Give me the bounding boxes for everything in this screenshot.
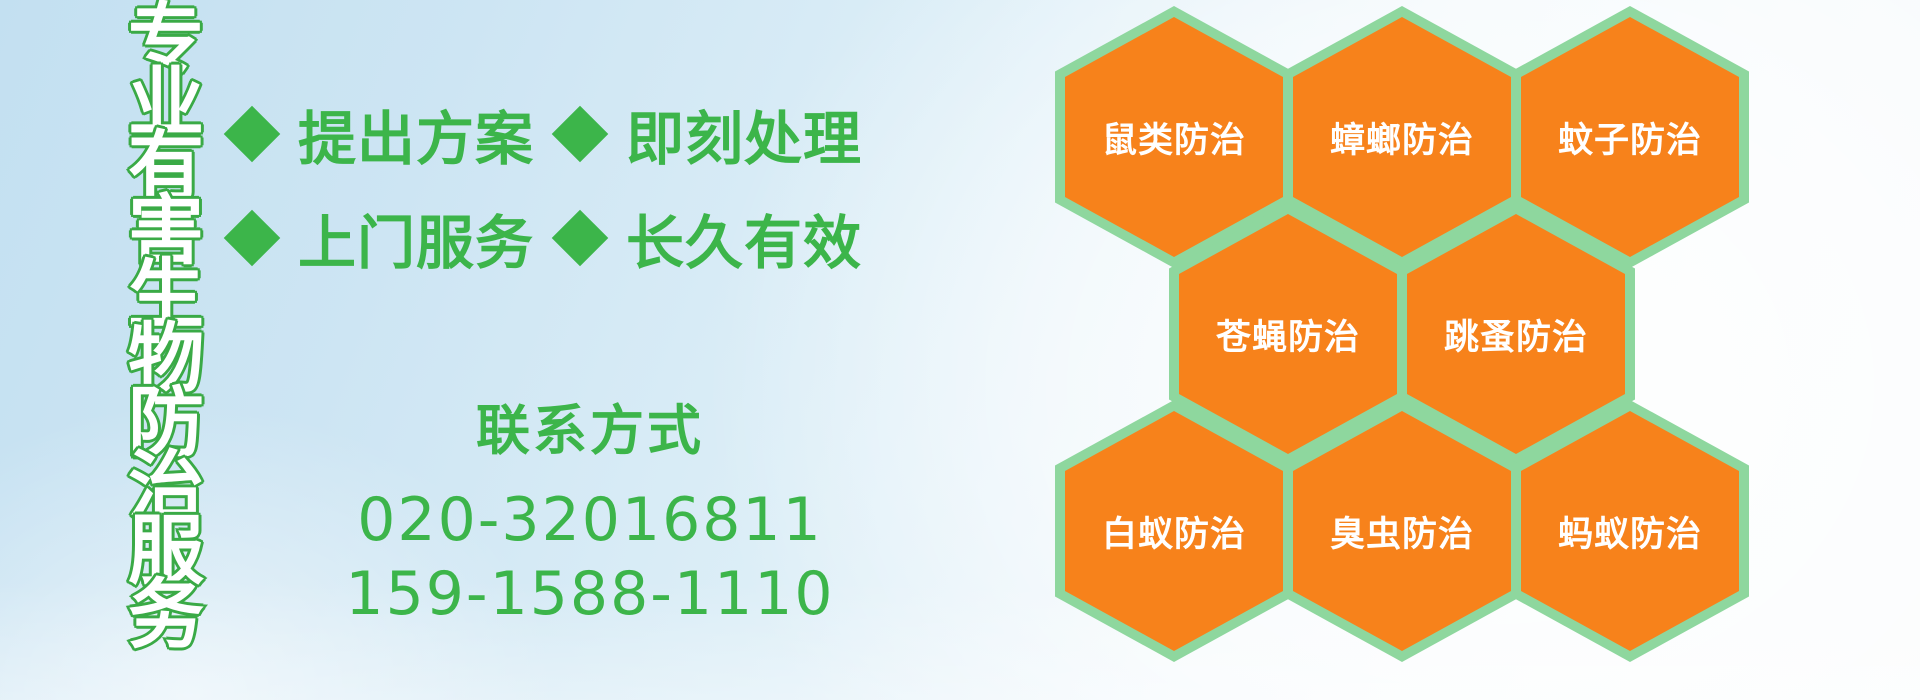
service-honeycomb: 鼠类防治 蟑螂防治 蚊子防治 苍蝇防治 跳蚤防治 白蚁防治 xyxy=(1055,0,1755,700)
service-label: 蚊子防治 xyxy=(1558,112,1702,163)
service-label: 苍蝇防治 xyxy=(1216,309,1360,360)
hex-inner: 蟑螂防治 xyxy=(1293,17,1511,257)
feature-row: 上门服务 长久有效 xyxy=(232,186,872,290)
service-label: 跳蚤防治 xyxy=(1444,309,1588,360)
diamond-bullet-icon xyxy=(224,210,281,267)
hex-inner: 跳蚤防治 xyxy=(1407,214,1625,454)
contact-block: 联系方式 020-32016811 159-1588-1110 xyxy=(330,386,850,631)
service-label: 蚂蚁防治 xyxy=(1558,506,1702,557)
feature-label: 上门服务 xyxy=(298,196,534,280)
feature-label: 长久有效 xyxy=(626,196,862,280)
phone-number-landline[interactable]: 020-32016811 xyxy=(330,483,850,557)
feature-label: 提出方案 xyxy=(298,92,534,176)
hex-inner: 白蚁防治 xyxy=(1065,411,1283,651)
service-label: 鼠类防治 xyxy=(1102,112,1246,163)
service-label: 白蚁防治 xyxy=(1102,506,1246,557)
hex-inner: 苍蝇防治 xyxy=(1179,214,1397,454)
phone-number-mobile[interactable]: 159-1588-1110 xyxy=(330,557,850,631)
feature-label: 即刻处理 xyxy=(626,92,862,176)
hex-inner: 鼠类防治 xyxy=(1065,17,1283,257)
promo-banner: 专 业 有 害 生 物 防 治 服 务 提出方案 即刻处理 上门服务 长久有效 … xyxy=(0,0,1920,700)
vertical-headline: 专 业 有 害 生 物 防 治 服 务 xyxy=(110,8,222,700)
hex-inner: 蚊子防治 xyxy=(1521,17,1739,257)
contact-title: 联系方式 xyxy=(330,386,850,465)
diamond-bullet-icon xyxy=(552,210,609,267)
feature-row: 提出方案 即刻处理 xyxy=(232,82,872,186)
feature-list: 提出方案 即刻处理 上门服务 长久有效 xyxy=(232,82,872,290)
vertical-headline-char: 务 xyxy=(128,584,204,646)
service-label: 臭虫防治 xyxy=(1330,506,1474,557)
service-label: 蟑螂防治 xyxy=(1330,112,1474,163)
hex-inner: 臭虫防治 xyxy=(1293,411,1511,651)
diamond-bullet-icon xyxy=(224,106,281,163)
diamond-bullet-icon xyxy=(552,106,609,163)
hex-inner: 蚂蚁防治 xyxy=(1521,411,1739,651)
